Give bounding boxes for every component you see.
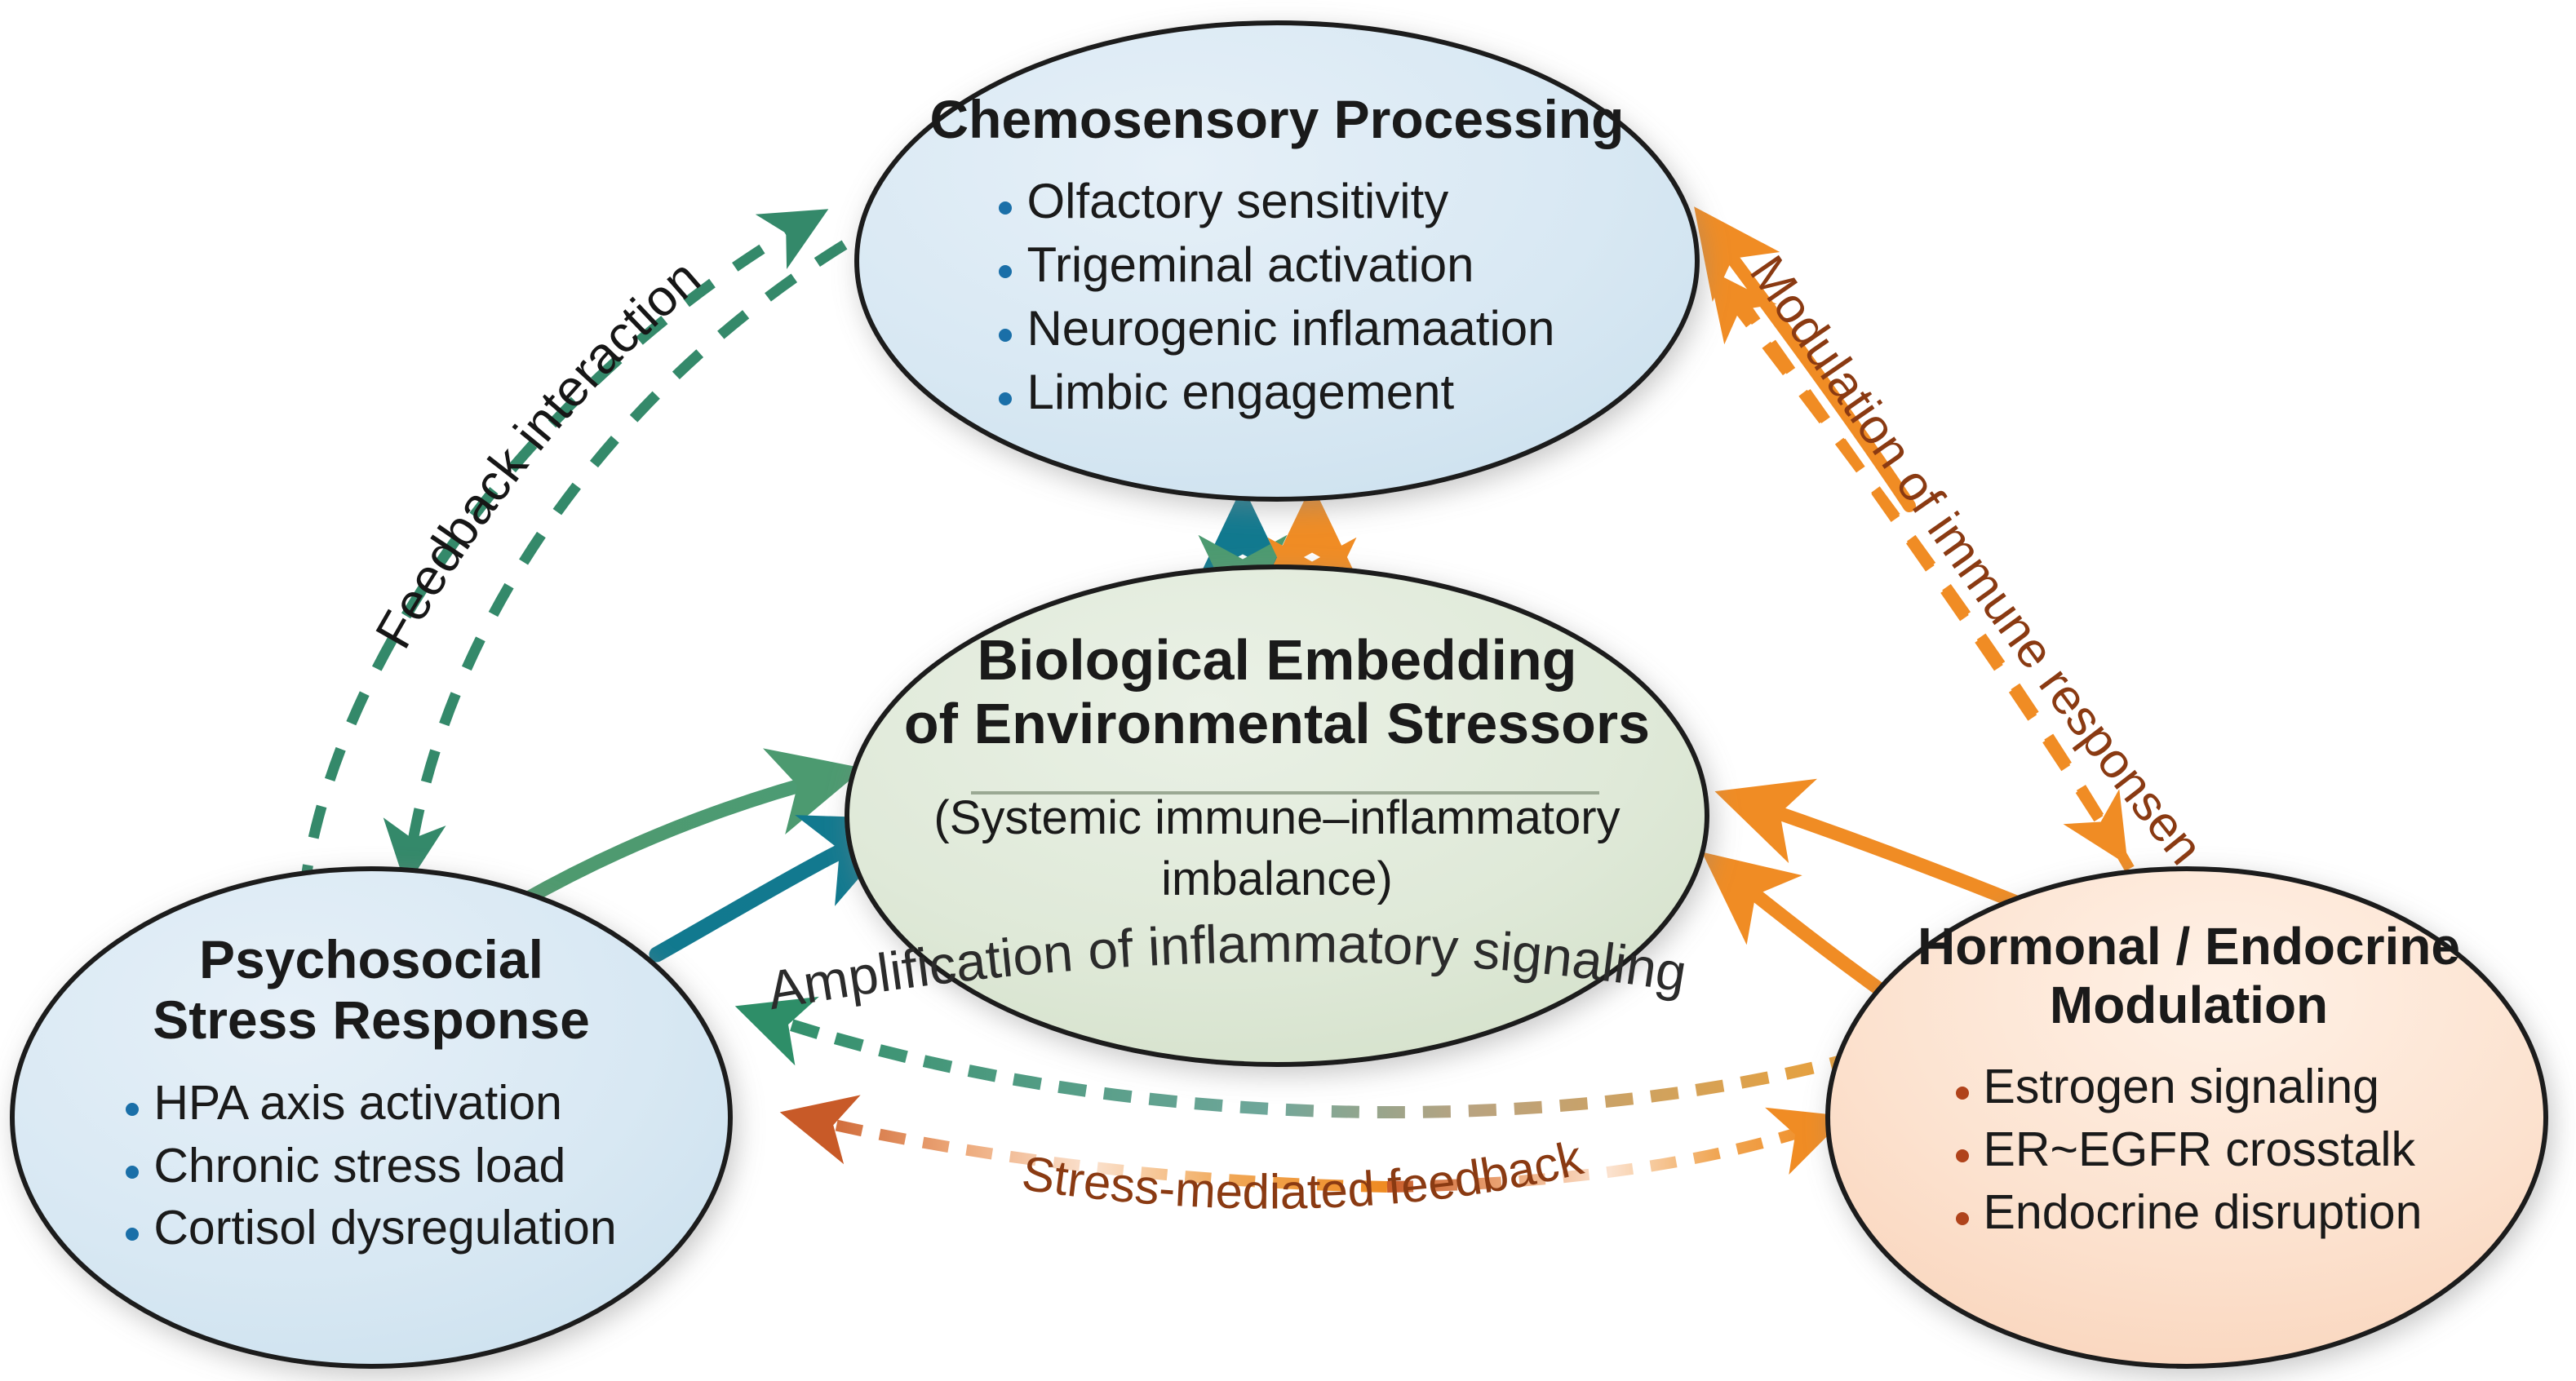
edge-label-stress-feedback: Stress-mediated feedback bbox=[1018, 1130, 1588, 1219]
edge-modulation-dashed-down bbox=[1736, 294, 2120, 852]
diagram-canvas: Feedback interaction Modulation of immun… bbox=[0, 0, 2576, 1381]
edge-label-feedback-interaction: Feedback interaction bbox=[365, 249, 711, 657]
edge-label-modulation-immune: Modulation of immune responsen bbox=[1740, 246, 2214, 874]
node-psychosocial-shape[interactable] bbox=[12, 869, 730, 1366]
node-hormonal-shape[interactable] bbox=[1828, 869, 2546, 1366]
node-chemosensory-shape[interactable] bbox=[857, 23, 1697, 499]
edge-modulation-dashed-up bbox=[1718, 281, 2130, 869]
diagram-svg: Feedback interaction Modulation of immun… bbox=[0, 0, 2576, 1381]
